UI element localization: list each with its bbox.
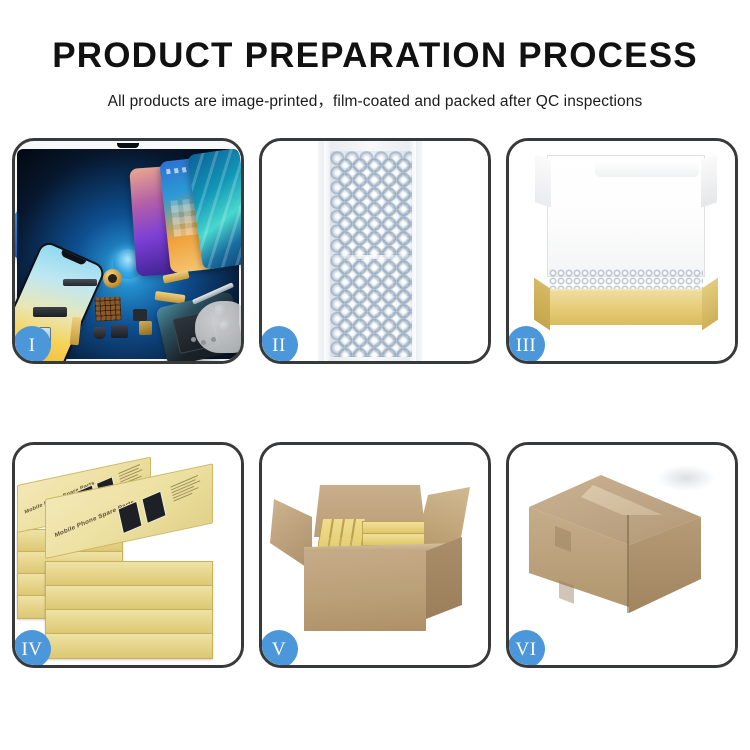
part-flex-bar	[63, 279, 97, 286]
bubble-grid	[330, 151, 412, 357]
step-5-image	[262, 445, 488, 665]
inner-box-lid	[547, 155, 705, 277]
step-badge-1: I	[13, 326, 51, 364]
process-steps-grid: I II	[0, 138, 750, 698]
step-panel-3[interactable]: III	[506, 138, 738, 364]
part-speaker-coil	[103, 269, 122, 288]
stack-box-front-1	[45, 561, 213, 587]
step-badge-5: V	[260, 630, 298, 668]
step-6-image	[509, 445, 735, 665]
stack-box-front-4	[45, 633, 213, 659]
step-4-image: Mobile Phone Spare Parts Mobile Phone Sp…	[15, 445, 241, 665]
protector-screen	[17, 149, 73, 248]
step-panel-5[interactable]: V	[259, 442, 491, 668]
step-badge-4: IV	[13, 630, 51, 668]
step-badge-2: II	[260, 326, 298, 364]
carton-vertical-edge	[627, 515, 629, 613]
inner-box-front	[547, 293, 705, 325]
screen-protector	[15, 141, 73, 248]
part-buzzer	[93, 327, 106, 339]
product-preparation-infographic: PRODUCT PREPARATION PROCESS All products…	[0, 0, 750, 750]
screws-group	[191, 337, 221, 347]
carton-side	[426, 537, 462, 619]
step-panel-6[interactable]: VI	[506, 442, 738, 668]
box-artwork-swatch	[141, 491, 166, 525]
header: PRODUCT PREPARATION PROCESS All products…	[0, 0, 750, 111]
part-chip-array	[94, 296, 121, 321]
step-panel-2[interactable]: II	[259, 138, 491, 364]
step-badge-6: VI	[507, 630, 545, 668]
lid-tab	[595, 161, 699, 177]
page-title: PRODUCT PREPARATION PROCESS	[0, 38, 750, 73]
step-3-image	[509, 141, 735, 361]
step-1-image	[15, 141, 241, 361]
box-spec-lines	[170, 474, 203, 504]
box-stack: Mobile Phone Spare Parts Mobile Phone Sp…	[15, 445, 241, 665]
part-flex-cable-c	[33, 307, 67, 317]
step-badge-3: III	[507, 326, 545, 364]
step-2-image	[262, 141, 488, 361]
stack-box-front-2	[45, 585, 213, 611]
carton-front	[304, 551, 426, 631]
step-panel-4[interactable]: Mobile Phone Spare Parts Mobile Phone Sp…	[12, 442, 244, 668]
page-subtitle: All products are image-printed，film-coat…	[0, 89, 750, 111]
step-panel-1[interactable]: I	[12, 138, 244, 364]
stack-box-front-3	[45, 609, 213, 635]
bubble-wrap-pouch	[318, 141, 422, 361]
pouch-seam	[328, 255, 414, 259]
part-speaker	[111, 325, 128, 338]
carton-highlight	[657, 465, 715, 491]
part-logic-chip	[133, 309, 147, 321]
part-camera-module	[139, 321, 152, 335]
